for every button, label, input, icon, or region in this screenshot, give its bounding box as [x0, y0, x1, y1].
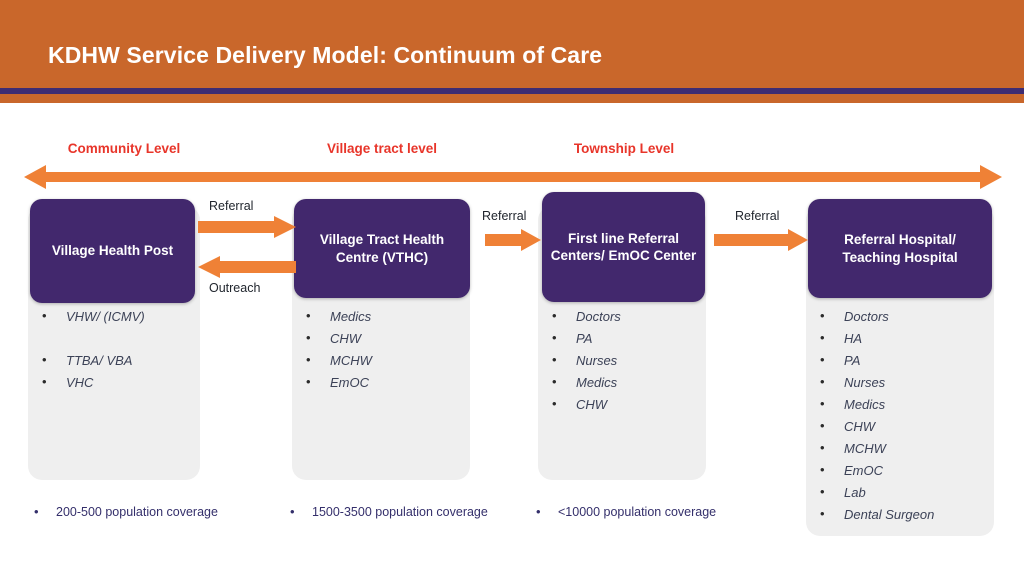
connector-label-referral-1: Referral — [209, 199, 253, 213]
node-title: Village Health Post — [52, 242, 173, 259]
coverage-note-village-tract: 1500-3500 population coverage — [286, 504, 492, 522]
list-item: PA — [550, 332, 702, 345]
level-label-village-tract: Village tract level — [296, 141, 468, 156]
node-title: Referral Hospital/ Teaching Hospital — [814, 231, 986, 266]
list-item: Doctors — [550, 310, 702, 323]
node-village-tract-health-centre[interactable]: Village Tract Health Centre (VTHC) — [294, 199, 470, 298]
list-item: VHW/ (ICMV) — [40, 310, 198, 323]
list-item: EmOC — [304, 376, 466, 389]
continuum-double-arrow-icon — [24, 164, 1002, 190]
coverage-note-community: 200-500 population coverage — [30, 504, 226, 522]
list-item: PA — [818, 354, 990, 367]
connector-label-referral-3: Referral — [735, 209, 779, 223]
node-referral-teaching-hospital[interactable]: Referral Hospital/ Teaching Hospital — [808, 199, 992, 298]
page-title: KDHW Service Delivery Model: Continuum o… — [48, 42, 602, 69]
list-item: Lab — [818, 486, 990, 499]
list-item: MCHW — [818, 442, 990, 455]
staff-list-township: Doctors PA Nurses Medics CHW — [550, 310, 702, 420]
staff-list-community: VHW/ (ICMV) TTBA/ VBA VHC — [40, 310, 198, 398]
list-item: TTBA/ VBA — [40, 354, 198, 367]
coverage-note-township: <10000 population coverage — [532, 504, 738, 522]
list-item: MCHW — [304, 354, 466, 367]
list-item: VHC — [40, 376, 198, 389]
node-title: Village Tract Health Centre (VTHC) — [300, 231, 464, 266]
list-item: Medics — [818, 398, 990, 411]
list-item: Dental Surgeon — [818, 508, 990, 521]
node-title: First line Referral Centers/ EmOC Center — [548, 230, 699, 265]
list-item: Medics — [304, 310, 466, 323]
list-item: CHW — [304, 332, 466, 345]
header-orange-rule — [0, 94, 1024, 103]
connector-arrow-frc-hospital-icon — [714, 229, 808, 251]
level-label-community: Community Level — [38, 141, 210, 156]
list-item: Nurses — [550, 354, 702, 367]
connector-arrow-vthc-frc-icon — [485, 229, 541, 251]
staff-list-village-tract: Medics CHW MCHW EmOC — [304, 310, 466, 398]
level-label-township: Township Level — [538, 141, 710, 156]
list-item: HA — [818, 332, 990, 345]
list-item: EmOC — [818, 464, 990, 477]
node-first-line-referral-center[interactable]: First line Referral Centers/ EmOC Center — [542, 192, 705, 302]
list-item: CHW — [550, 398, 702, 411]
list-item: Nurses — [818, 376, 990, 389]
node-village-health-post[interactable]: Village Health Post — [30, 199, 195, 303]
list-item: Doctors — [818, 310, 990, 323]
staff-list-referral-hospital: Doctors HA PA Nurses Medics CHW MCHW EmO… — [818, 310, 990, 530]
list-item: CHW — [818, 420, 990, 433]
connector-arrows-vhp-vthc-icon — [198, 216, 296, 278]
connector-label-referral-2: Referral — [482, 209, 526, 223]
list-item: Medics — [550, 376, 702, 389]
connector-label-outreach: Outreach — [209, 281, 260, 295]
